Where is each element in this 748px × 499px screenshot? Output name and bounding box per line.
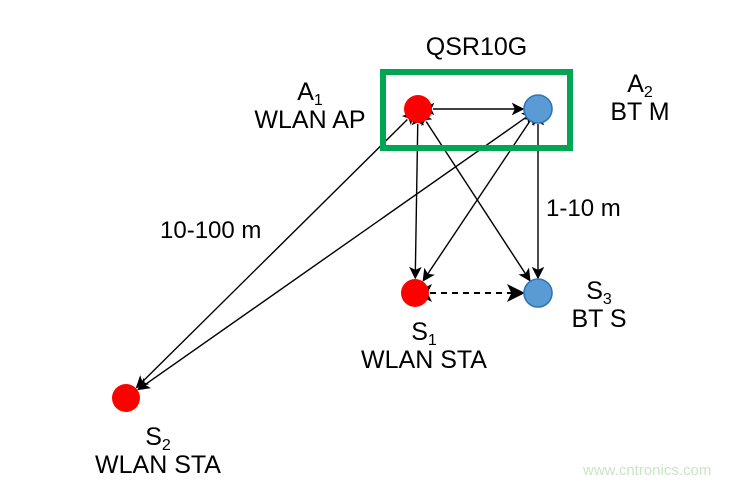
node-a2[interactable]	[524, 95, 552, 123]
node-id-subscript: 2	[644, 84, 653, 101]
node-label-s3: S3BT S	[571, 277, 626, 333]
node-id-subscript: 3	[603, 291, 612, 308]
node-id-subscript: 1	[314, 92, 323, 109]
node-id-base: S	[145, 423, 162, 451]
distance-label-1: 1-10 m	[546, 196, 621, 223]
distance-label-0: 10-100 m	[160, 218, 261, 245]
node-role-a1: WLAN AP	[254, 106, 365, 134]
node-id-a1: A1	[254, 78, 365, 106]
node-id-s1: S1	[361, 318, 487, 346]
node-id-subscript: 1	[428, 332, 437, 349]
node-s2[interactable]	[112, 384, 140, 412]
node-role-s1: WLAN STA	[361, 346, 487, 374]
watermark: www.cntronics.com	[583, 462, 711, 479]
node-label-s2: S2WLAN STA	[95, 423, 221, 479]
node-id-s2: S2	[95, 423, 221, 451]
node-role-s3: BT S	[571, 305, 626, 333]
node-label-a1: A1WLAN AP	[254, 78, 365, 134]
node-role-a2: BT M	[610, 98, 669, 126]
node-id-base: S	[586, 277, 603, 305]
node-label-s1: S1WLAN STA	[361, 318, 487, 374]
node-id-a2: A2	[610, 70, 669, 98]
node-role-s2: WLAN STA	[95, 451, 221, 479]
group-box-title: QSR10G	[426, 33, 527, 61]
node-id-base: S	[411, 318, 428, 346]
node-id-s3: S3	[571, 277, 626, 305]
node-a1[interactable]	[404, 95, 432, 123]
node-s3[interactable]	[524, 279, 552, 307]
node-id-subscript: 2	[162, 437, 171, 454]
node-id-base: A	[627, 70, 644, 98]
node-label-a2: A2BT M	[610, 70, 669, 126]
network-diagram: QSR10G A1WLAN APA2BT MS1WLAN STAS2WLAN S…	[0, 0, 748, 499]
node-s1[interactable]	[401, 279, 429, 307]
node-id-base: A	[297, 78, 314, 106]
